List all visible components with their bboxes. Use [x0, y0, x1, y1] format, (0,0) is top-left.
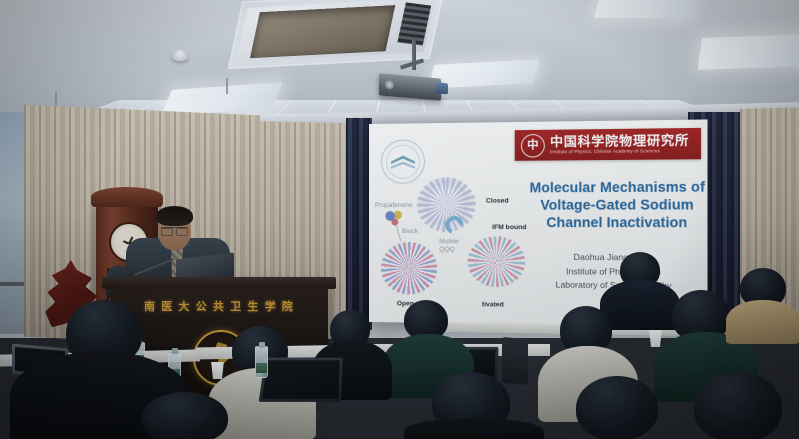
cas-banner-texts: 中国科学院物理研究所 Institute of Physics, Chinese…: [550, 134, 689, 155]
ac-vent-inner: [250, 5, 395, 58]
cas-institute-banner: 中 中国科学院物理研究所 Institute of Physics, Chine…: [515, 128, 701, 161]
paper-cup: [648, 330, 663, 347]
seal-chevron-shape: [391, 162, 415, 171]
speaker-hair: [156, 206, 193, 226]
lecture-hall-photo: 中 中国科学院物理研究所 Institute of Physics, Chine…: [0, 0, 799, 439]
diagram-label-block: Block: [402, 228, 418, 235]
slide-title: Molecular Mechanisms of Voltage-Gated So…: [523, 178, 707, 232]
audience-head: [142, 392, 228, 439]
diagram-label-qqq: QQQ: [439, 246, 455, 253]
university-seal-icon: [381, 139, 425, 184]
diagram-label-propafenone: Propafenone: [375, 202, 413, 209]
ceiling-hanger-rod: [55, 92, 57, 106]
slide-title-line-3: Channel Inactivation: [523, 214, 707, 232]
speaker-head: [158, 210, 191, 250]
audience-shoulders: [600, 280, 680, 330]
cas-seal-glyph: 中: [527, 140, 538, 151]
ceiling-light-panel: [594, 0, 694, 18]
audience-shoulders: [404, 418, 544, 439]
protein-structure-open: [381, 242, 437, 295]
lectern-inscription: 南 医 大 公 共 卫 生 学 院: [110, 298, 328, 314]
ceiling-light-panel: [697, 34, 799, 70]
slide-title-line-1: Molecular Mechanisms of: [523, 178, 707, 197]
projector-icon: [379, 73, 441, 100]
cas-banner-chinese: 中国科学院物理研究所: [550, 134, 689, 148]
speaker-glasses-icon: [161, 227, 188, 234]
empty-chair: [502, 337, 528, 385]
presenter-name: Daohua Jiang Ph.D.: [521, 251, 708, 266]
slide-title-line-2: Voltage-Gated Sodium: [523, 196, 707, 214]
laptop: [259, 358, 343, 402]
water-bottle: [255, 346, 268, 378]
diagram-label-mobile: Mobile: [439, 238, 459, 245]
audience-shoulders: [726, 300, 799, 344]
cas-banner-english: Institute of Physics, Chinese Academy of…: [550, 149, 689, 155]
mobile-qqq-icon: [445, 216, 463, 234]
protein-structure-inactivated: [468, 236, 526, 287]
audience-head: [694, 372, 782, 439]
projector-lens: [385, 80, 394, 90]
smoke-detector-icon: [172, 50, 188, 61]
presenter-affiliation: Institute of Physics,CAS: [521, 264, 708, 279]
laptop-screen: [262, 360, 340, 398]
diagram-label-closed: Closed: [486, 198, 509, 205]
cas-seal-icon: 中: [521, 133, 545, 157]
audience-head: [576, 376, 658, 439]
diagram-label-inactivated: tivated: [482, 301, 504, 308]
clock-crown: [91, 187, 163, 207]
ceiling-hanger-rod: [226, 78, 228, 94]
lectern-top: [102, 277, 336, 289]
diagram-label-ifm-bound: IFM bound: [492, 224, 526, 231]
